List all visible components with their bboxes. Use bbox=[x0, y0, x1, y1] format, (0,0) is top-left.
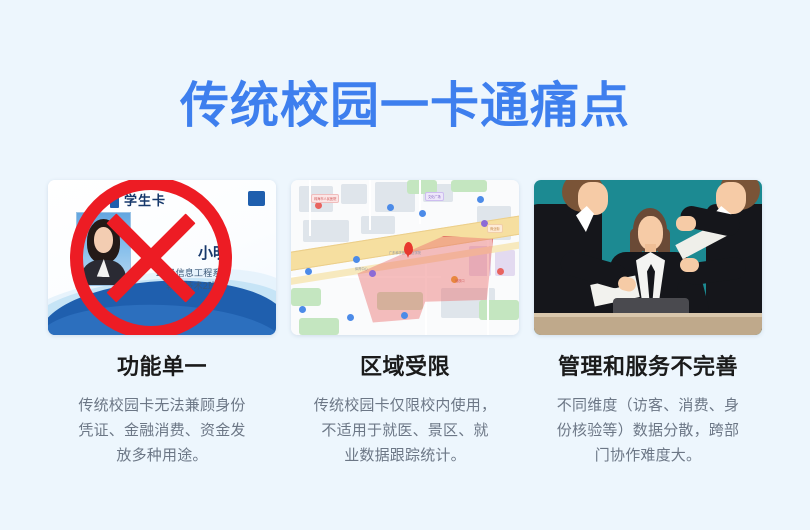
map-poi-dot bbox=[315, 202, 322, 209]
student-id-card-illustration: 学生卡 小明 23级信息工程系 软件技术2班 bbox=[48, 180, 276, 335]
pain-point-card-list: 学生卡 小明 23级信息工程系 软件技术2班 bbox=[0, 180, 810, 500]
map-poi-dot bbox=[477, 196, 484, 203]
map-poi-dot bbox=[347, 314, 354, 321]
card-3-image bbox=[534, 180, 762, 335]
map-poi-dot bbox=[401, 312, 408, 319]
map-label-sports: 体育中心 bbox=[355, 266, 368, 271]
map-poi-dot bbox=[419, 210, 426, 217]
slide-canvas: 传统校园一卡通痛点 学生卡 bbox=[0, 0, 810, 530]
card-3-body-line-2: 份核验等）数据分散，跨部 bbox=[534, 418, 762, 443]
card-2-body: 传统校园卡仅限校内使用， 不适用于就医、景区、就 业数据跟踪统计。 bbox=[291, 393, 519, 468]
page-title: 传统校园一卡通痛点 bbox=[0, 78, 810, 134]
card-3-heading: 管理和服务不完善 bbox=[534, 354, 762, 380]
map-poi-dot bbox=[497, 268, 504, 275]
card-1-body-line-1: 传统校园卡无法兼顾身份 bbox=[48, 393, 276, 418]
card-3-body-line-3: 门协作难度大。 bbox=[534, 443, 762, 468]
card-2-body-line-1: 传统校园卡仅限校内使用， bbox=[291, 393, 519, 418]
map-park bbox=[291, 288, 321, 306]
card-1-heading: 功能单一 bbox=[48, 354, 276, 380]
card-1-body-line-2: 凭证、金融消费、资金发 bbox=[48, 418, 276, 443]
red-x-circle-icon bbox=[70, 180, 232, 335]
pain-point-card-2: 珠海市人民医院 文化广场 商业街 广东科学技术职业学院 体育中心 地铁口 区域受… bbox=[291, 180, 519, 468]
map-street bbox=[309, 180, 311, 236]
map-poi-dot bbox=[387, 204, 394, 211]
map-poi-dot bbox=[369, 270, 376, 277]
map-park bbox=[451, 180, 487, 192]
card-2-body-line-2: 不适用于就医、景区、就 bbox=[291, 418, 519, 443]
map-park bbox=[299, 318, 339, 335]
card-1-image: 学生卡 小明 23级信息工程系 软件技术2班 bbox=[48, 180, 276, 335]
card-header-square-icon bbox=[248, 191, 265, 206]
card-2-image: 珠海市人民医院 文化广场 商业街 广东科学技术职业学院 体育中心 地铁口 bbox=[291, 180, 519, 335]
right-person-hand bbox=[680, 258, 699, 272]
map-label-hospital: 珠海市人民医院 bbox=[311, 194, 339, 203]
card-2-heading: 区域受限 bbox=[291, 354, 519, 380]
map-block bbox=[341, 184, 367, 204]
card-2-body-line-3: 业数据跟踪统计。 bbox=[291, 443, 519, 468]
map-block bbox=[361, 216, 395, 234]
pain-point-card-3: 管理和服务不完善 不同维度（访客、消费、身 份核验等）数据分散，跨部 门协作难度… bbox=[534, 180, 762, 468]
map-poi-dot bbox=[299, 306, 306, 313]
map-illustration: 珠海市人民医院 文化广场 商业街 广东科学技术职业学院 体育中心 地铁口 bbox=[291, 180, 519, 335]
map-poi-dot bbox=[353, 256, 360, 263]
map-street bbox=[369, 180, 371, 230]
card-3-body-line-1: 不同维度（访客、消费、身 bbox=[534, 393, 762, 418]
map-location-pin-icon bbox=[404, 242, 413, 255]
map-label-culture: 文化广场 bbox=[425, 192, 444, 201]
map-park bbox=[479, 300, 519, 320]
right-person-pointing-hand bbox=[676, 216, 696, 231]
card-3-body: 不同维度（访客、消费、身 份核验等）数据分散，跨部 门协作难度大。 bbox=[534, 393, 762, 468]
map-street bbox=[419, 180, 421, 224]
map-poi-dot bbox=[305, 268, 312, 275]
map-label-metro: 地铁口 bbox=[455, 278, 465, 283]
card-1-body: 传统校园卡无法兼顾身份 凭证、金融消费、资金发 放多种用途。 bbox=[48, 393, 276, 468]
desk bbox=[534, 317, 762, 335]
map-label-commercial: 商业街 bbox=[487, 224, 503, 233]
office-meeting-illustration bbox=[534, 180, 762, 335]
card-1-body-line-3: 放多种用途。 bbox=[48, 443, 276, 468]
pain-point-card-1: 学生卡 小明 23级信息工程系 软件技术2班 bbox=[48, 180, 276, 468]
